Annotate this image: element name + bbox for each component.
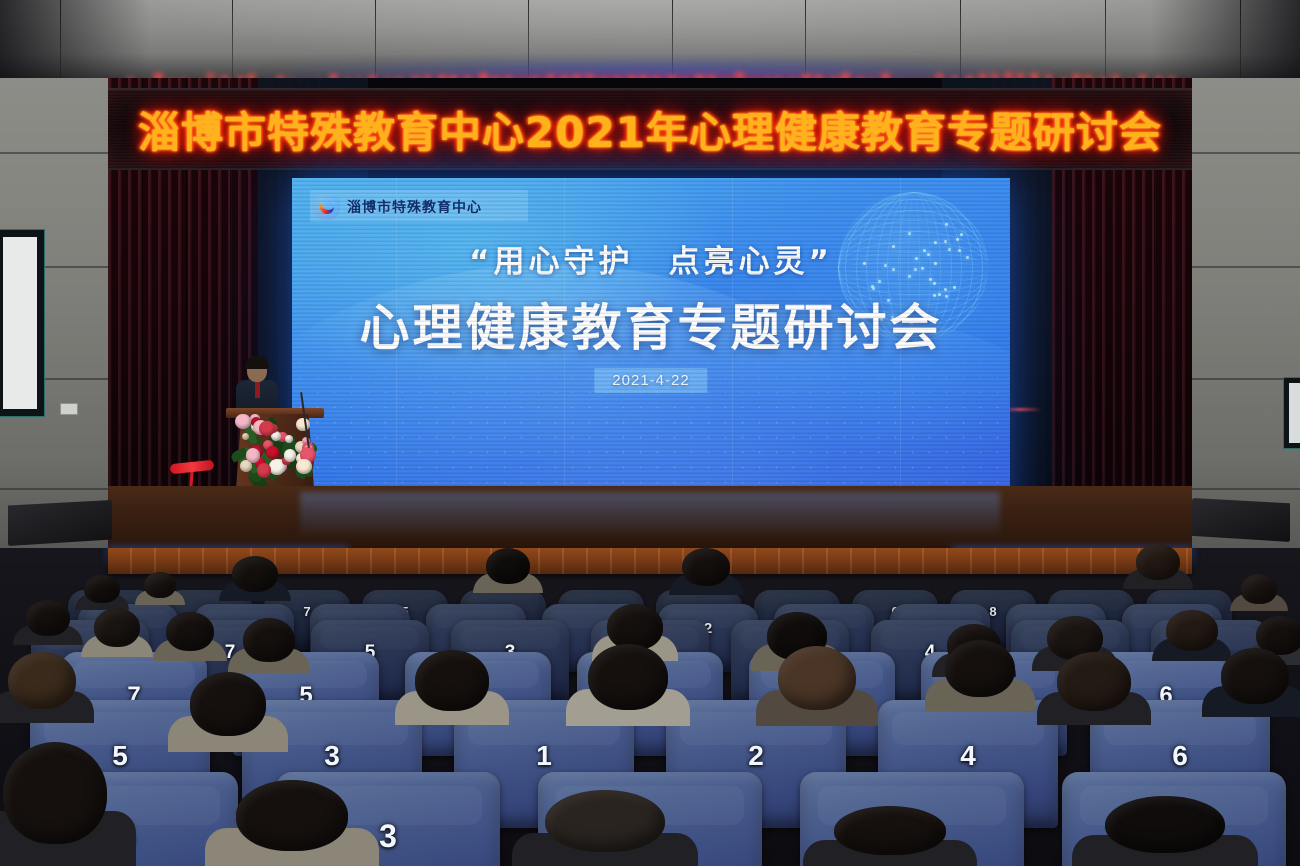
stage-monitor-speaker-right xyxy=(1192,498,1290,542)
wall-joint xyxy=(1182,266,1300,268)
audience-member xyxy=(20,600,76,644)
audience-member xyxy=(676,548,736,594)
wall-picture-frame xyxy=(0,230,44,416)
wall-joint xyxy=(1182,488,1300,490)
audience-member xyxy=(480,548,536,592)
wall-joint xyxy=(1182,378,1300,380)
audience-member xyxy=(80,575,124,609)
audience-member xyxy=(768,646,866,724)
audience-member xyxy=(140,572,180,604)
audience-member xyxy=(236,618,302,672)
audience-member xyxy=(1130,544,1186,588)
audience-member xyxy=(88,608,146,656)
led-title-banner: 淄博市特殊教育中心2021年心理健康教育专题研讨会 xyxy=(108,88,1192,170)
audience-member xyxy=(406,650,498,724)
audience-member xyxy=(1236,574,1282,610)
wall-joint xyxy=(0,488,118,490)
auditorium-photo: 淄博市特殊教育中心2021年心理健康教育专题研讨会 淄博市特殊教育中心 “用心守… xyxy=(0,0,1300,866)
audience-member xyxy=(226,556,284,600)
wall-light-fixture xyxy=(1284,378,1300,448)
led-banner-text: 淄博市特殊教育中心2021年心理健康教育专题研讨会 xyxy=(138,99,1162,160)
audience-member xyxy=(180,672,276,750)
audience-member xyxy=(222,780,362,866)
audience-member xyxy=(820,806,960,866)
stage-floor-reflection xyxy=(300,492,1000,538)
audience-member xyxy=(1090,796,1240,866)
wall-outlet xyxy=(60,403,78,415)
audience-member xyxy=(160,612,220,660)
audience-member xyxy=(936,640,1024,710)
wall-joint xyxy=(1182,152,1300,154)
wall-joint xyxy=(0,152,118,154)
audience-member xyxy=(1048,652,1140,724)
audience-member xyxy=(530,790,680,866)
audience-member xyxy=(0,652,84,722)
audience-member xyxy=(578,644,678,724)
audience-member xyxy=(0,742,120,866)
stage-monitor-speaker-left xyxy=(8,500,112,546)
audience-member xyxy=(1212,648,1298,716)
